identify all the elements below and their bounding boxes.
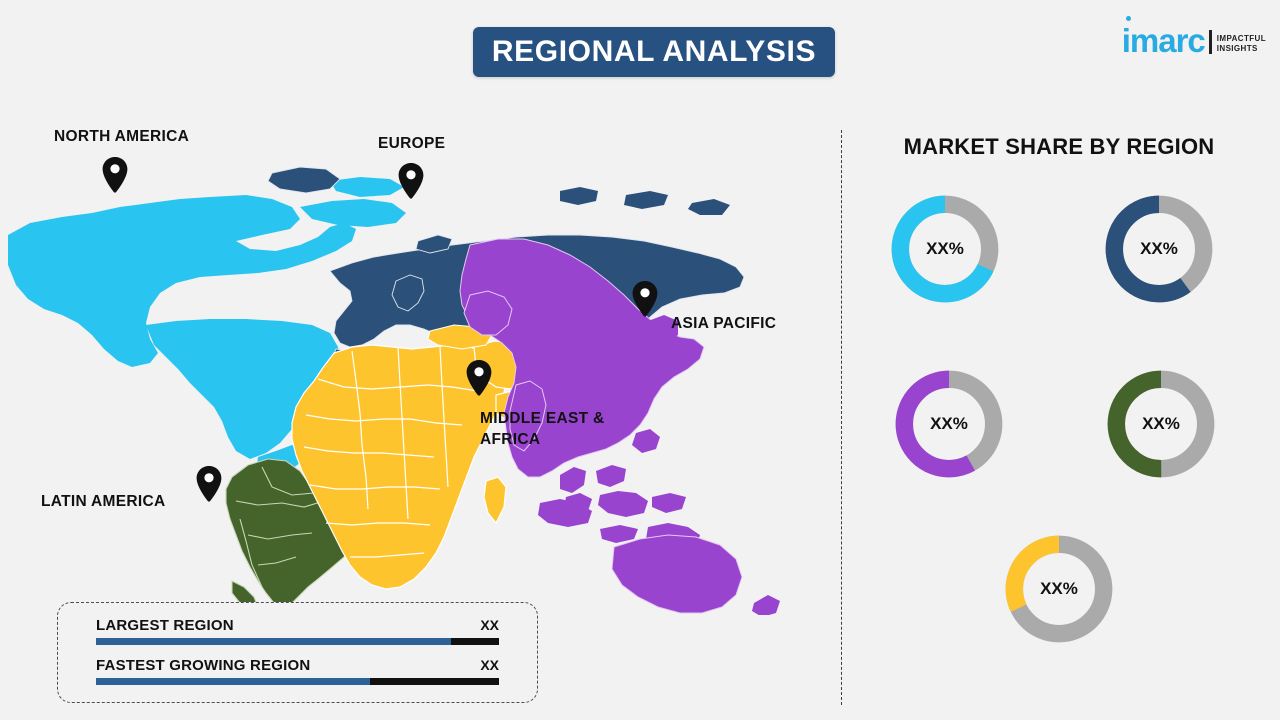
logo-divider-icon xyxy=(1209,30,1212,54)
map-label-north-america: NORTH AMERICA xyxy=(54,126,189,147)
donut-label-latin-america: XX% xyxy=(1102,365,1220,483)
map-label-latin-america: LATIN AMERICA xyxy=(41,491,165,512)
donut-chart-middle-east-africa[interactable]: XX% xyxy=(1000,530,1118,648)
logo-dot-icon xyxy=(1126,16,1131,21)
map-pin-middle-east-africa-icon[interactable] xyxy=(466,360,492,396)
map-pin-latin-america-icon[interactable] xyxy=(196,466,222,502)
map-label-europe: EUROPE xyxy=(378,133,445,154)
donut-chart-europe[interactable]: XX% xyxy=(1100,190,1218,308)
donut-chart-north-america[interactable]: XX% xyxy=(886,190,1004,308)
infographic-root: REGIONAL ANALYSIS imarc IMPACTFUL INSIGH… xyxy=(0,0,1280,720)
logo-tagline-line1: IMPACTFUL xyxy=(1217,34,1266,44)
logo-wordmark: imarc xyxy=(1122,26,1205,56)
legend-bar-fill-largest-region xyxy=(96,638,451,645)
legend-bar-fastest-growing-region xyxy=(96,678,499,685)
legend-row-fastest-growing-region: FASTEST GROWING REGION XX xyxy=(96,657,499,685)
region-legend-box: LARGEST REGION XX FASTEST GROWING REGION… xyxy=(57,602,538,703)
donut-chart-asia-pacific[interactable]: XX% xyxy=(890,365,1008,483)
legend-value-fastest-growing-region: XX xyxy=(480,657,499,673)
panel-divider xyxy=(841,130,842,705)
donut-label-north-america: XX% xyxy=(886,190,1004,308)
market-share-title: MARKET SHARE BY REGION xyxy=(884,134,1234,160)
imarc-logo: imarc IMPACTFUL INSIGHTS xyxy=(1122,20,1266,56)
legend-row-largest-region: LARGEST REGION XX xyxy=(96,617,499,645)
donut-chart-latin-america[interactable]: XX% xyxy=(1102,365,1220,483)
legend-value-largest-region: XX xyxy=(480,617,499,633)
logo-wordmark-text: imarc xyxy=(1122,22,1205,59)
map-pin-asia-pacific-icon[interactable] xyxy=(632,281,658,317)
legend-label-fastest-growing-region: FASTEST GROWING REGION xyxy=(96,657,310,674)
legend-bar-largest-region xyxy=(96,638,499,645)
legend-bar-fill-fastest-growing-region xyxy=(96,678,370,685)
donut-label-asia-pacific: XX% xyxy=(890,365,1008,483)
page-title: REGIONAL ANALYSIS xyxy=(492,35,816,69)
map-label-asia-pacific: ASIA PACIFIC xyxy=(671,313,776,334)
page-title-banner: REGIONAL ANALYSIS xyxy=(473,27,835,77)
legend-label-largest-region: LARGEST REGION xyxy=(96,617,234,634)
map-pin-north-america-icon[interactable] xyxy=(102,157,128,193)
donut-label-middle-east-africa: XX% xyxy=(1000,530,1118,648)
map-pin-europe-icon[interactable] xyxy=(398,163,424,199)
logo-tagline-line2: INSIGHTS xyxy=(1217,44,1266,54)
donut-label-europe: XX% xyxy=(1100,190,1218,308)
logo-tagline: IMPACTFUL INSIGHTS xyxy=(1217,34,1266,54)
map-label-middle-east-africa: MIDDLE EAST & AFRICA xyxy=(480,408,630,450)
